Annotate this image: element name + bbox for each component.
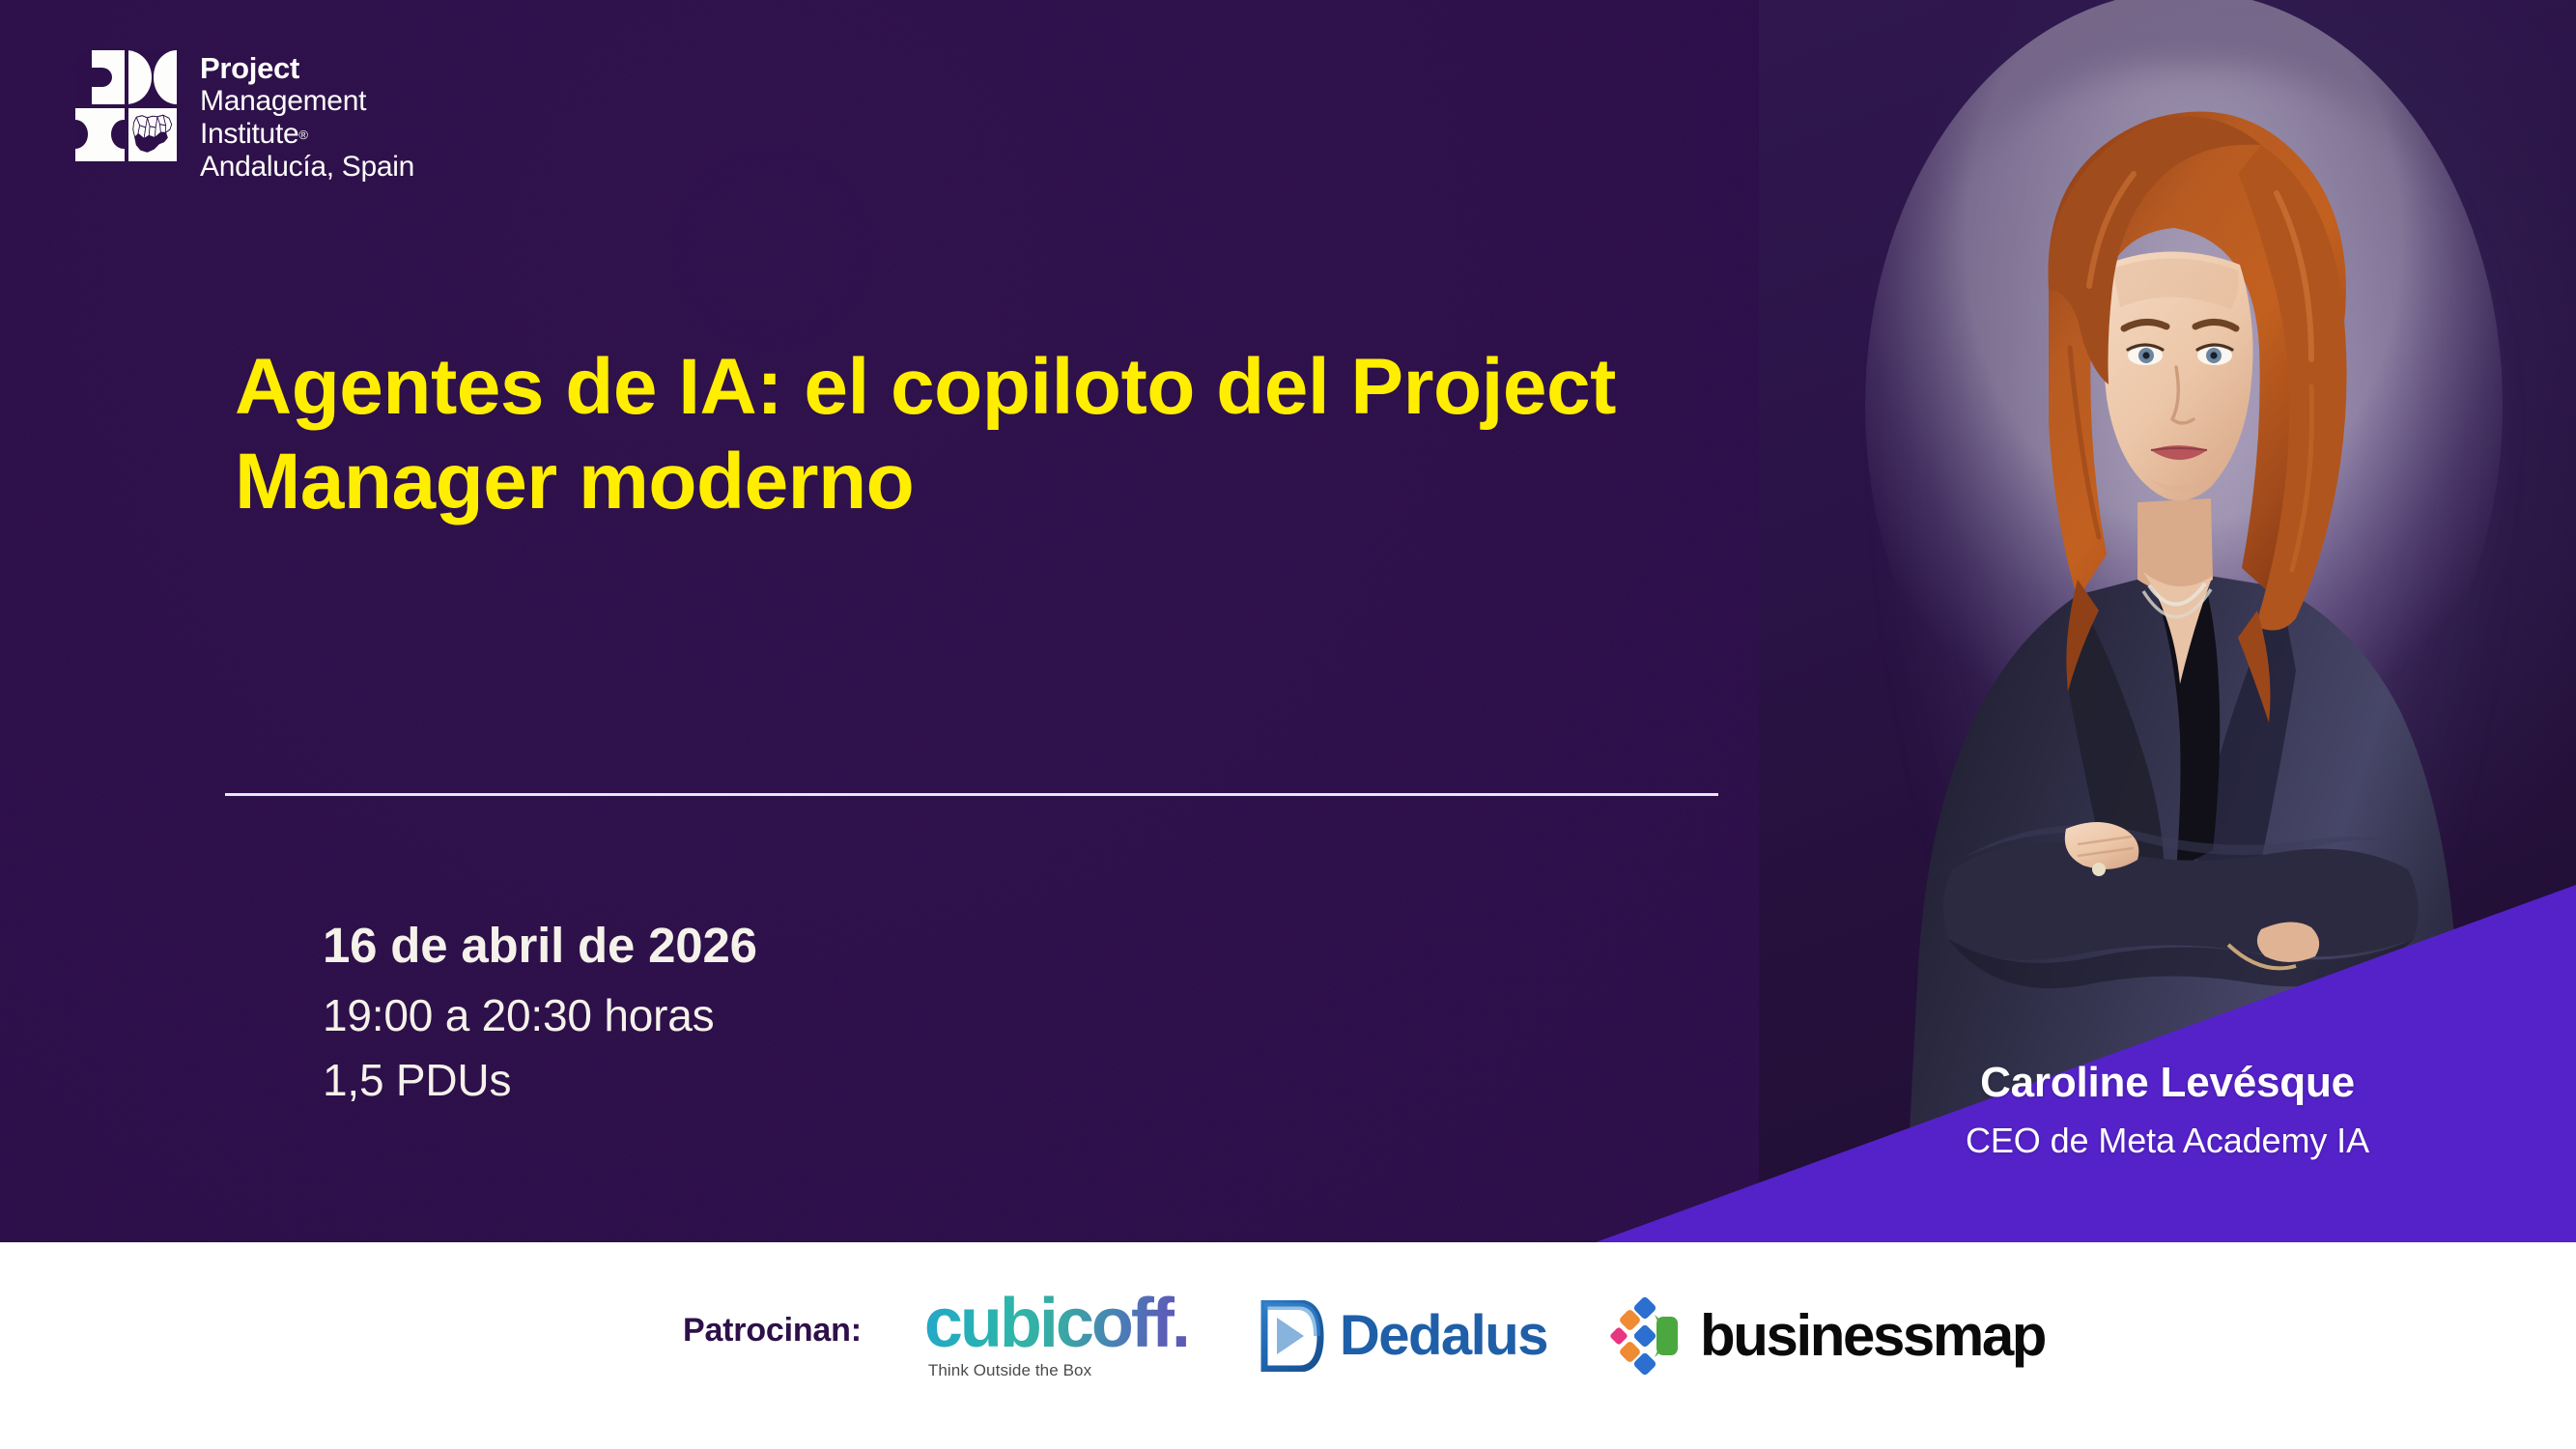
pmi-logo-line-1: Project bbox=[200, 51, 414, 85]
event-title: Agentes de IA: el copiloto del Project M… bbox=[235, 340, 1616, 528]
title-divider bbox=[225, 793, 1718, 796]
sponsor-logo-list: cubicoff. Think Outside the Box bbox=[924, 1291, 2045, 1380]
event-promo-poster: Project Management Institute® Andalucía,… bbox=[0, 0, 2576, 1449]
pmi-mark-letter-i bbox=[75, 108, 125, 162]
event-pdus: 1,5 PDUs bbox=[323, 1053, 757, 1109]
pmi-logo-chapter: Andalucía, Spain bbox=[200, 151, 414, 184]
cubicoff-wordmark: cubicoff. bbox=[924, 1291, 1201, 1357]
sponsor-footer: Patrocinan: cubicoff. Think Outside the … bbox=[0, 1242, 2576, 1449]
pmi-logo-line-3-text: Institute bbox=[200, 118, 298, 150]
speaker-photo-panel bbox=[1759, 0, 2576, 1242]
speaker-name: Caroline Levésque bbox=[1759, 1059, 2576, 1107]
pmi-logo-mark bbox=[75, 50, 177, 161]
cubicoff-tagline: Think Outside the Box bbox=[928, 1361, 1201, 1380]
pmi-logo-wordmark: Project Management Institute® Andalucía,… bbox=[200, 50, 414, 184]
pmi-mark-halfcircles bbox=[128, 50, 178, 104]
event-details: 16 de abril de 2026 19:00 a 20:30 horas … bbox=[323, 916, 757, 1109]
sponsors-label: Patrocinan: bbox=[683, 1291, 862, 1350]
dedalus-wordmark: Dedalus bbox=[1340, 1308, 1547, 1364]
speaker-caption: Caroline Levésque CEO de Meta Academy IA bbox=[1759, 1059, 2576, 1161]
pmi-logo: Project Management Institute® Andalucía,… bbox=[75, 50, 414, 184]
pmi-logo-line-3: Institute® bbox=[200, 118, 414, 151]
sponsor-logo-cubicoff[interactable]: cubicoff. Think Outside the Box bbox=[924, 1291, 1201, 1380]
dedalus-mark-icon bbox=[1260, 1300, 1324, 1372]
businessmap-wordmark: businessmap bbox=[1700, 1307, 2045, 1365]
businessmap-mark-icon bbox=[1607, 1297, 1683, 1375]
registered-trademark-icon: ® bbox=[298, 128, 307, 142]
sponsor-logo-businessmap[interactable]: businessmap bbox=[1607, 1297, 2045, 1375]
speaker-role: CEO de Meta Academy IA bbox=[1759, 1121, 2576, 1161]
event-date: 16 de abril de 2026 bbox=[323, 916, 757, 976]
pmi-logo-line-2: Management bbox=[200, 85, 414, 118]
sponsor-logo-dedalus[interactable]: Dedalus bbox=[1260, 1300, 1547, 1372]
pmi-mark-letter-p bbox=[75, 50, 125, 104]
speaker-portrait bbox=[1759, 0, 2576, 1242]
hero-panel: Project Management Institute® Andalucía,… bbox=[0, 0, 2576, 1242]
spain-map-icon bbox=[128, 108, 178, 162]
event-time: 19:00 a 20:30 horas bbox=[323, 988, 757, 1044]
